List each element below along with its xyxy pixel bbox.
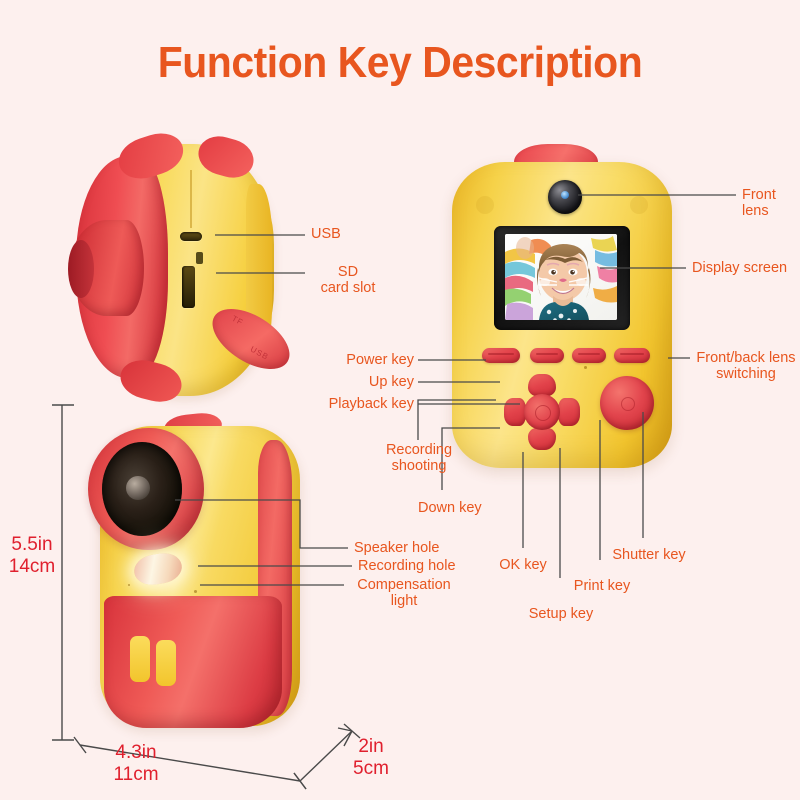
shutter-key-button[interactable] — [600, 376, 654, 430]
lens-hole — [68, 240, 94, 298]
label-playback-key: Playback key — [258, 396, 414, 412]
camera-front-view — [82, 418, 320, 738]
front-lens-icon[interactable] — [548, 180, 582, 214]
setup-key-button[interactable] — [558, 398, 580, 426]
front-lens-element — [126, 476, 150, 500]
label-recording-hole: Recording hole — [358, 558, 456, 574]
playback-key-button[interactable] — [530, 348, 564, 363]
infographic-canvas: Function Key Description TF USB — [0, 0, 800, 800]
front-panel-bar-1 — [130, 636, 150, 682]
page-title: Function Key Description — [28, 38, 772, 88]
label-display-screen: Display screen — [692, 260, 787, 276]
sd-card-slot-icon — [182, 266, 195, 308]
down-key-button[interactable] — [528, 428, 556, 450]
dimension-height: 5.5in 14cm — [2, 534, 62, 578]
dimension-width: 4.3in 11cm — [96, 742, 176, 786]
microphone-hole-icon — [584, 366, 587, 369]
label-sd-card-slot: SD card slot — [300, 264, 396, 296]
label-usb: USB — [311, 226, 341, 242]
front-panel-bar-2 — [156, 640, 176, 686]
up-key-button[interactable] — [528, 374, 556, 396]
usb-port-icon — [180, 232, 202, 241]
label-speaker-hole: Speaker hole — [354, 540, 439, 556]
display-screen[interactable] — [505, 234, 617, 320]
screen-photo — [505, 234, 617, 320]
label-front-lens: Front lens — [742, 187, 800, 219]
camera-main-back-view — [452, 152, 672, 482]
dpad-cluster — [504, 374, 580, 450]
body-seam — [190, 170, 192, 228]
lens-switch-key-button[interactable] — [614, 348, 650, 363]
label-shutter-key: Shutter key — [606, 547, 692, 563]
dim-width-cap-left — [74, 737, 86, 753]
label-setup-key: Setup key — [523, 606, 599, 622]
label-power-key: Power key — [258, 352, 414, 368]
ok-key-button[interactable] — [524, 394, 560, 430]
power-key-button[interactable] — [482, 348, 520, 363]
recording-hole-icon — [194, 590, 197, 593]
dim-width-cap-right — [294, 773, 306, 789]
label-up-key: Up key — [258, 374, 414, 390]
label-down-key: Down key — [418, 500, 482, 516]
label-ok-key: OK key — [487, 557, 559, 573]
speaker-hole-icon — [128, 584, 130, 586]
label-lens-switching: Front/back lens switching — [690, 350, 800, 382]
label-print-key: Print key — [564, 578, 640, 594]
dimension-depth: 2in 5cm — [336, 736, 406, 780]
print-key-button[interactable] — [572, 348, 606, 363]
label-recording-shooting: Recording shooting — [366, 442, 472, 474]
dim-depth-cap-near — [294, 773, 306, 789]
label-compensation-light: Compensation light — [350, 577, 458, 609]
body-dimple-left — [476, 196, 494, 214]
body-dimple-right — [630, 196, 648, 214]
port-marker-icon — [196, 252, 203, 264]
flap-label-tf: TF — [230, 314, 245, 327]
recording-shooting-key-button[interactable] — [504, 398, 526, 426]
